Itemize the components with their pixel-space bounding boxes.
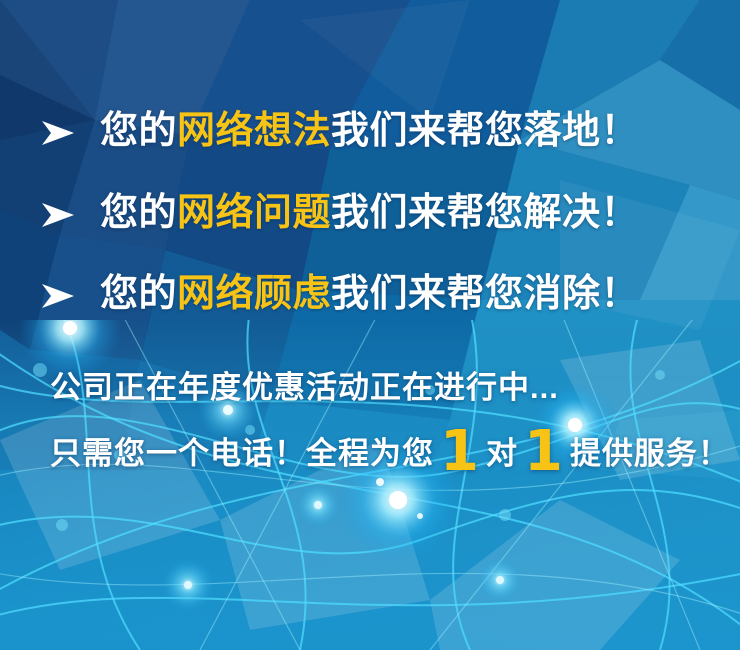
arrow-right-icon [40,281,76,311]
arrow-right-icon [40,118,76,148]
bullet-suffix-3: 我们来帮您消除！ [331,273,639,315]
bullet-row-3: 您的网络顾虑我们来帮您消除！ [40,271,639,317]
bullet-text-2: 您的网络问题我们来帮您解决！ [100,190,639,236]
bullet-prefix-3: 您的 [100,273,177,315]
bullet-text-1: 您的网络想法我们来帮您落地！ [100,108,639,154]
bullet-suffix-1: 我们来帮您落地！ [331,110,639,152]
subline2-part-1: 只需您一个电话！全程为您 [50,428,434,473]
bullet-highlight-1: 网络想法 [177,110,331,152]
subline2-part-3: 提供服务！ [570,428,730,473]
promo-banner: 您的网络想法我们来帮您落地！ 您的网络问题我们来帮您解决！ 您的网络顾虑我们来帮… [0,0,740,650]
bullet-prefix-1: 您的 [100,110,177,152]
subline2-number-2: 1 [524,430,564,475]
bullet-text-3: 您的网络顾虑我们来帮您消除！ [100,271,639,317]
banner-content: 您的网络想法我们来帮您落地！ 您的网络问题我们来帮您解决！ 您的网络顾虑我们来帮… [0,0,740,650]
bullet-row-1: 您的网络想法我们来帮您落地！ [40,108,639,154]
bullet-prefix-2: 您的 [100,192,177,234]
arrow-right-icon [40,200,76,230]
promo-subline-1: 公司正在年度优惠活动正在进行中... [50,362,559,407]
bullet-row-2: 您的网络问题我们来帮您解决！ [40,190,639,236]
bullet-suffix-2: 我们来帮您解决！ [331,192,639,234]
promo-subline-2: 只需您一个电话！全程为您 1 对 1 提供服务！ [50,428,730,473]
subline2-part-2: 对 [486,428,518,473]
bullet-highlight-3: 网络顾虑 [177,273,331,315]
subline2-number-1: 1 [440,430,480,475]
bullet-highlight-2: 网络问题 [177,192,331,234]
